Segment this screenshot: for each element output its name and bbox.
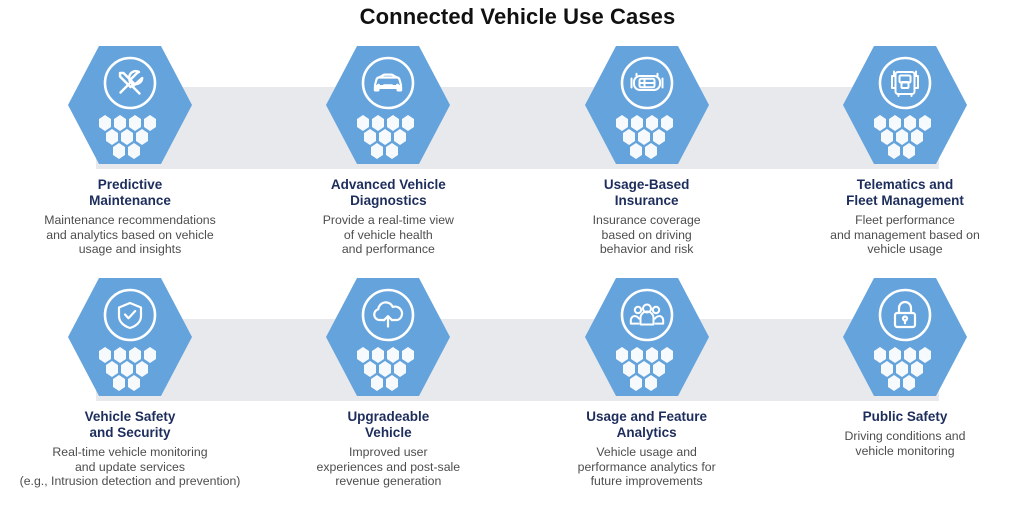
hexagon-badge: [326, 42, 450, 168]
use-case-card-vehicle-safety-security[interactable]: Vehicle Safety and Security Real-time ve…: [8, 274, 252, 489]
hexagon-badge: [68, 42, 192, 168]
hexagon-badge: [843, 274, 967, 400]
use-case-card-predictive-maintenance[interactable]: Predictive Maintenance Maintenance recom…: [8, 42, 252, 257]
use-case-grid: Predictive Maintenance Maintenance recom…: [0, 42, 1035, 506]
card-title: Usage and Feature Analytics: [586, 409, 707, 441]
card-title: Predictive Maintenance: [89, 177, 171, 209]
card-description: Real-time vehicle monitoring and update …: [20, 445, 241, 489]
hexagon-badge: [68, 274, 192, 400]
use-case-row-2: Vehicle Safety and Security Real-time ve…: [0, 274, 1035, 506]
card-description: Vehicle usage and performance analytics …: [578, 445, 716, 489]
card-title: Advanced Vehicle Diagnostics: [331, 177, 446, 209]
use-case-card-usage-feature-analytics[interactable]: Usage and Feature Analytics Vehicle usag…: [525, 274, 769, 489]
hexagon-badge: [326, 274, 450, 400]
card-description: Provide a real-time view of vehicle heal…: [323, 213, 454, 257]
use-case-card-upgradeable-vehicle[interactable]: Upgradeable Vehicle Improved user experi…: [266, 274, 510, 489]
card-title: Upgradeable Vehicle: [347, 409, 429, 441]
card-description: Maintenance recommendations and analytic…: [44, 213, 216, 257]
card-title: Vehicle Safety and Security: [85, 409, 176, 441]
hexagon-badge: [585, 274, 709, 400]
use-case-card-telematics-fleet-management[interactable]: Telematics and Fleet Management Fleet pe…: [783, 42, 1027, 257]
card-description: Driving conditions and vehicle monitorin…: [844, 429, 965, 458]
use-case-row-1: Predictive Maintenance Maintenance recom…: [0, 42, 1035, 274]
card-description: Insurance coverage based on driving beha…: [593, 213, 701, 257]
use-case-card-public-safety[interactable]: Public Safety Driving conditions and veh…: [783, 274, 1027, 489]
use-case-card-advanced-vehicle-diagnostics[interactable]: Advanced Vehicle Diagnostics Provide a r…: [266, 42, 510, 257]
card-description: Improved user experiences and post-sale …: [317, 445, 461, 489]
card-description: Fleet performance and management based o…: [830, 213, 980, 257]
hexagon-badge: [585, 42, 709, 168]
page-title: Connected Vehicle Use Cases: [0, 2, 1035, 30]
use-case-card-usage-based-insurance[interactable]: Usage-Based Insurance Insurance coverage…: [525, 42, 769, 257]
card-title: Public Safety: [863, 409, 948, 425]
card-title: Telematics and Fleet Management: [846, 177, 964, 209]
card-title: Usage-Based Insurance: [604, 177, 690, 209]
hexagon-badge: [843, 42, 967, 168]
